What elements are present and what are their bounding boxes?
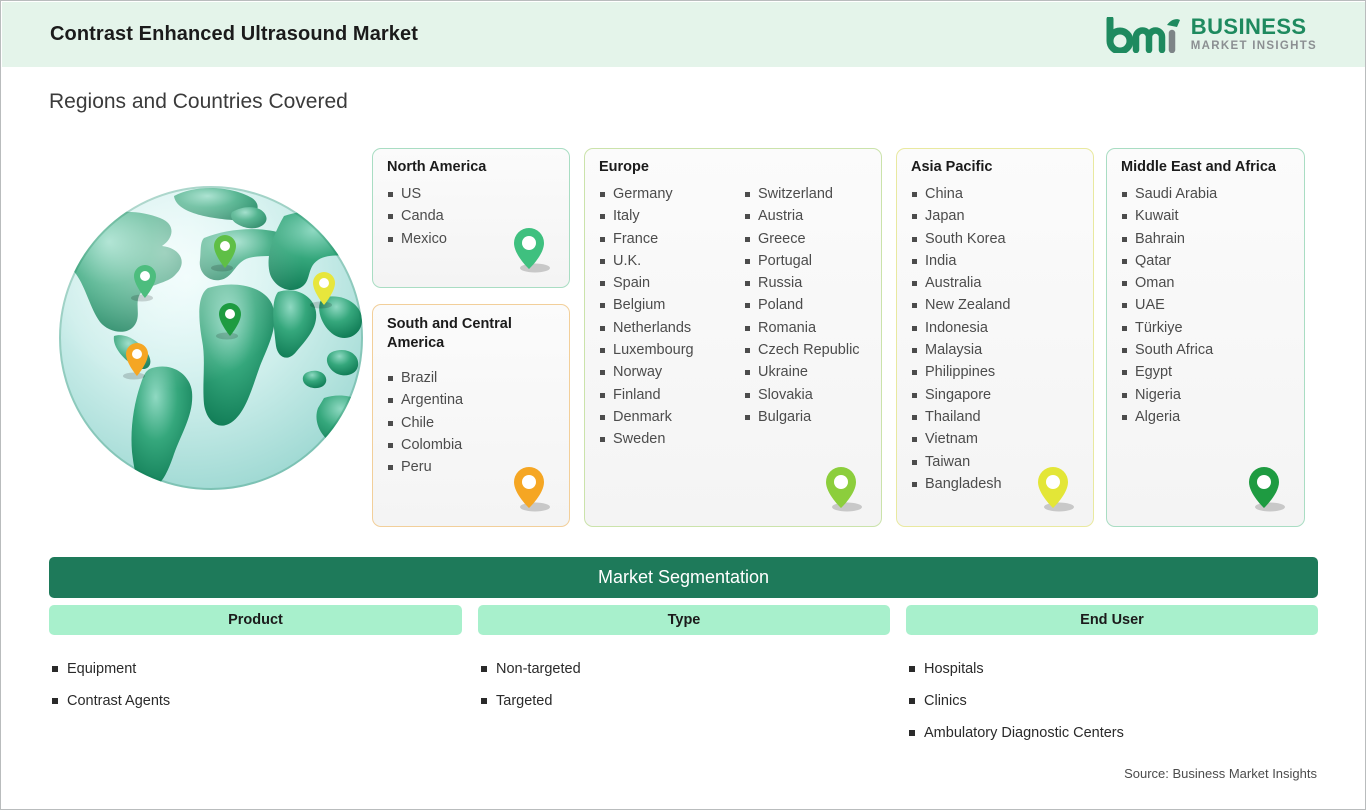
- country-item: Kuwait: [1121, 205, 1217, 227]
- logo-market-insights-text: MARKET INSIGHTS: [1191, 41, 1317, 53]
- segmentation-item: Equipment: [52, 653, 170, 685]
- segmentation-list-product: Equipment Contrast Agents: [52, 653, 170, 717]
- map-pin-icon: [507, 224, 555, 279]
- country-item: Taiwan: [911, 451, 1010, 473]
- country-item: Algeria: [1121, 406, 1217, 428]
- country-item: Oman: [1121, 272, 1217, 294]
- country-item: Romania: [744, 317, 860, 339]
- country-item: Mexico: [387, 228, 447, 250]
- country-item: Ukraine: [744, 361, 860, 383]
- page-title: Contrast Enhanced Ultrasound Market: [50, 23, 418, 46]
- map-pin-icon: [1031, 463, 1079, 518]
- country-item: Australia: [911, 272, 1010, 294]
- country-item: Bangladesh: [911, 473, 1010, 495]
- region-title: Asia Pacific: [911, 159, 992, 176]
- country-item: Finland: [599, 384, 744, 406]
- segmentation-item: Non-targeted: [481, 653, 581, 685]
- country-item: Argentina: [387, 389, 463, 411]
- map-pin-icon: [819, 463, 867, 518]
- country-item: Türkiye: [1121, 317, 1217, 339]
- region-card-south-central-america[interactable]: South and Central America Brazil Argenti…: [372, 304, 570, 527]
- country-item: Bulgaria: [744, 406, 860, 428]
- region-country-column: Germany Italy France U.K. Spain Belgium …: [599, 183, 744, 451]
- segmentation-item: Hospitals: [909, 653, 1124, 685]
- country-item: Spain: [599, 272, 744, 294]
- infographic-page: Contrast Enhanced Ultrasound Market BUSI…: [0, 0, 1366, 810]
- market-segmentation-title: Market Segmentation: [598, 567, 769, 588]
- segmentation-column-header-end-user: End User: [906, 605, 1318, 635]
- country-item: Portugal: [744, 250, 860, 272]
- region-title: North America: [387, 159, 486, 176]
- country-item: US: [387, 183, 447, 205]
- country-item: Vietnam: [911, 428, 1010, 450]
- section-title: Regions and Countries Covered: [49, 90, 348, 114]
- segmentation-list-end-user: Hospitals Clinics Ambulatory Diagnostic …: [909, 653, 1124, 749]
- country-item: Japan: [911, 205, 1010, 227]
- country-item: Brazil: [387, 367, 463, 389]
- country-item: Canda: [387, 205, 447, 227]
- region-country-column: Switzerland Austria Greece Portugal Russ…: [744, 183, 860, 451]
- market-segmentation-header: Market Segmentation: [49, 557, 1318, 598]
- country-item: Singapore: [911, 384, 1010, 406]
- segmentation-column-label: End User: [1080, 612, 1144, 628]
- region-title: South and Central America: [387, 315, 537, 353]
- country-item: Austria: [744, 205, 860, 227]
- map-pin-icon: [1242, 463, 1290, 518]
- country-item: Greece: [744, 228, 860, 250]
- country-item: Philippines: [911, 361, 1010, 383]
- country-item: U.K.: [599, 250, 744, 272]
- country-item: Belgium: [599, 294, 744, 316]
- source-attribution: Source: Business Market Insights: [1124, 766, 1317, 781]
- country-item: Chile: [387, 412, 463, 434]
- segmentation-item: Clinics: [909, 685, 1124, 717]
- country-item: Colombia: [387, 434, 463, 456]
- region-card-europe[interactable]: Europe Germany Italy France U.K. Spain B…: [584, 148, 882, 527]
- country-item: Egypt: [1121, 361, 1217, 383]
- bmi-logo-icon: [1106, 17, 1182, 53]
- country-item: New Zealand: [911, 294, 1010, 316]
- country-item: France: [599, 228, 744, 250]
- country-item: Poland: [744, 294, 860, 316]
- country-item: Saudi Arabia: [1121, 183, 1217, 205]
- segmentation-column-header-product: Product: [49, 605, 462, 635]
- segmentation-column-label: Type: [668, 612, 701, 628]
- map-pin-icon: [507, 463, 555, 518]
- region-country-column: US Canda Mexico: [387, 183, 447, 250]
- region-card-middle-east-africa[interactable]: Middle East and Africa Saudi Arabia Kuwa…: [1106, 148, 1305, 527]
- country-item: Netherlands: [599, 317, 744, 339]
- country-item: Italy: [599, 205, 744, 227]
- country-item: Czech Republic: [744, 339, 860, 361]
- country-item: China: [911, 183, 1010, 205]
- country-item: Indonesia: [911, 317, 1010, 339]
- region-title: Europe: [599, 159, 649, 176]
- country-item: Thailand: [911, 406, 1010, 428]
- logo-business-text: BUSINESS: [1191, 16, 1317, 38]
- segmentation-item: Targeted: [481, 685, 581, 717]
- country-item: Nigeria: [1121, 384, 1217, 406]
- region-card-north-america[interactable]: North America US Canda Mexico: [372, 148, 570, 288]
- page-header: Contrast Enhanced Ultrasound Market BUSI…: [2, 2, 1365, 67]
- country-item: Qatar: [1121, 250, 1217, 272]
- region-country-column: China Japan South Korea India Australia …: [911, 183, 1010, 495]
- region-country-column: Saudi Arabia Kuwait Bahrain Qatar Oman U…: [1121, 183, 1217, 428]
- segmentation-item: Ambulatory Diagnostic Centers: [909, 717, 1124, 749]
- world-globe-illustration: [56, 176, 366, 501]
- country-item: Switzerland: [744, 183, 860, 205]
- region-country-column: Brazil Argentina Chile Colombia Peru: [387, 367, 463, 478]
- country-item: Malaysia: [911, 339, 1010, 361]
- country-item: UAE: [1121, 294, 1217, 316]
- country-item: Norway: [599, 361, 744, 383]
- region-title: Middle East and Africa: [1121, 159, 1276, 176]
- segmentation-column-label: Product: [228, 612, 283, 628]
- country-item: Germany: [599, 183, 744, 205]
- country-item: India: [911, 250, 1010, 272]
- country-item: Slovakia: [744, 384, 860, 406]
- segmentation-list-type: Non-targeted Targeted: [481, 653, 581, 717]
- country-item: Denmark: [599, 406, 744, 428]
- region-card-asia-pacific[interactable]: Asia Pacific China Japan South Korea Ind…: [896, 148, 1094, 527]
- segmentation-item: Contrast Agents: [52, 685, 170, 717]
- country-item: Peru: [387, 456, 463, 478]
- country-item: Luxembourg: [599, 339, 744, 361]
- country-item: Russia: [744, 272, 860, 294]
- country-item: Bahrain: [1121, 228, 1217, 250]
- country-item: South Africa: [1121, 339, 1217, 361]
- country-item: South Korea: [911, 228, 1010, 250]
- brand-logo: BUSINESS MARKET INSIGHTS: [1106, 16, 1317, 53]
- segmentation-column-header-type: Type: [478, 605, 890, 635]
- country-item: Sweden: [599, 428, 744, 450]
- logo-wordmark: BUSINESS MARKET INSIGHTS: [1191, 16, 1317, 53]
